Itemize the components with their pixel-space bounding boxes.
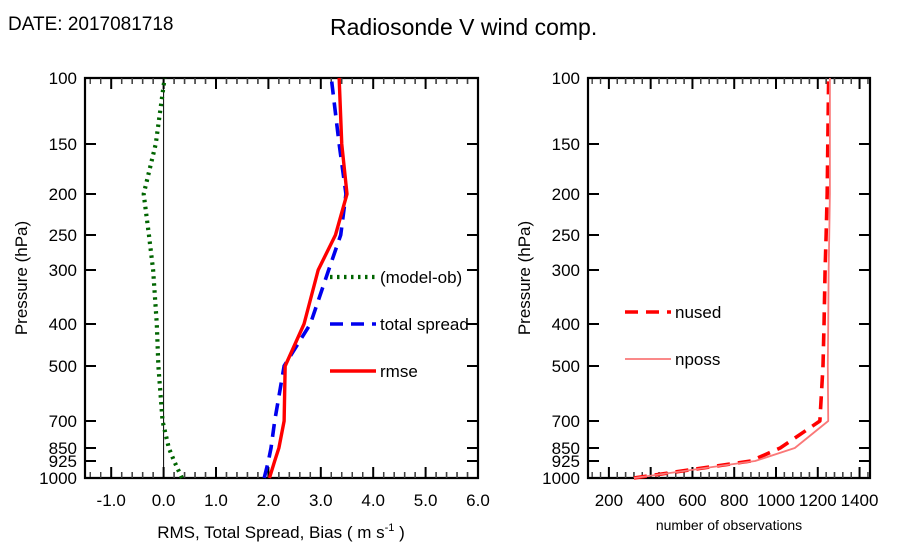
legend-label: total spread — [380, 315, 469, 334]
x-tick-label: 1200 — [799, 491, 837, 510]
series-line — [269, 78, 347, 478]
page-title: Radiosonde V wind comp. — [330, 14, 597, 41]
legend-label: nused — [675, 303, 721, 322]
y-tick-label: 700 — [552, 412, 580, 431]
y-tick-label: 250 — [552, 226, 580, 245]
y-tick-label: 150 — [49, 135, 77, 154]
x-tick-label: 0.0 — [152, 491, 176, 510]
y-tick-label: 300 — [552, 261, 580, 280]
counts-panel: 2004006008001000120014001001502002503004… — [515, 69, 878, 510]
y-tick-label: 300 — [49, 261, 77, 280]
y-tick-label: 400 — [552, 315, 580, 334]
date-label: DATE: 2017081718 — [8, 14, 174, 36]
y-tick-label: 250 — [49, 226, 77, 245]
y-tick-label: 1000 — [39, 469, 77, 488]
x-tick-label: -1.0 — [97, 491, 126, 510]
x-tick-label: 1000 — [757, 491, 795, 510]
x-axis-title: RMS, Total Spread, Bias ( m s-1 ) — [157, 522, 405, 542]
x-tick-label: 200 — [595, 491, 623, 510]
y-tick-label: 700 — [49, 412, 77, 431]
x-tick-label: 800 — [720, 491, 748, 510]
y-axis-title: Pressure (hPa) — [515, 221, 534, 335]
series-line — [144, 78, 182, 478]
series-line — [634, 78, 829, 478]
y-tick-label: 100 — [49, 69, 77, 88]
profile-plots: -1.00.01.02.03.04.05.06.0100150200250300… — [0, 0, 900, 560]
y-tick-label: 200 — [552, 185, 580, 204]
x-tick-label: 2.0 — [257, 491, 281, 510]
x-tick-label: 4.0 — [361, 491, 385, 510]
y-tick-label: 200 — [49, 185, 77, 204]
x-tick-label: 6.0 — [466, 491, 490, 510]
x-tick-label: 400 — [636, 491, 664, 510]
x-tick-label: 600 — [678, 491, 706, 510]
y-tick-label: 500 — [49, 357, 77, 376]
series-line — [264, 78, 346, 478]
legend-label: (model-ob) — [380, 268, 462, 287]
y-tick-label: 500 — [552, 357, 580, 376]
y-tick-label: 150 — [552, 135, 580, 154]
x-tick-label: 3.0 — [309, 491, 333, 510]
x-tick-label: 1.0 — [204, 491, 228, 510]
y-tick-label: 1000 — [542, 469, 580, 488]
series-line — [634, 78, 830, 478]
legend-label: rmse — [380, 362, 418, 381]
x-tick-label: 5.0 — [414, 491, 438, 510]
y-tick-label: 400 — [49, 315, 77, 334]
y-axis-title: Pressure (hPa) — [12, 221, 31, 335]
y-tick-label: 100 — [552, 69, 580, 88]
x-axis-title: number of observations — [656, 517, 802, 533]
stats-panel: -1.00.01.02.03.04.05.06.0100150200250300… — [12, 69, 490, 510]
x-tick-label: 1400 — [841, 491, 879, 510]
chart-page: DATE: 2017081718 Radiosonde V wind comp.… — [0, 0, 900, 560]
legend-label: nposs — [675, 350, 720, 369]
